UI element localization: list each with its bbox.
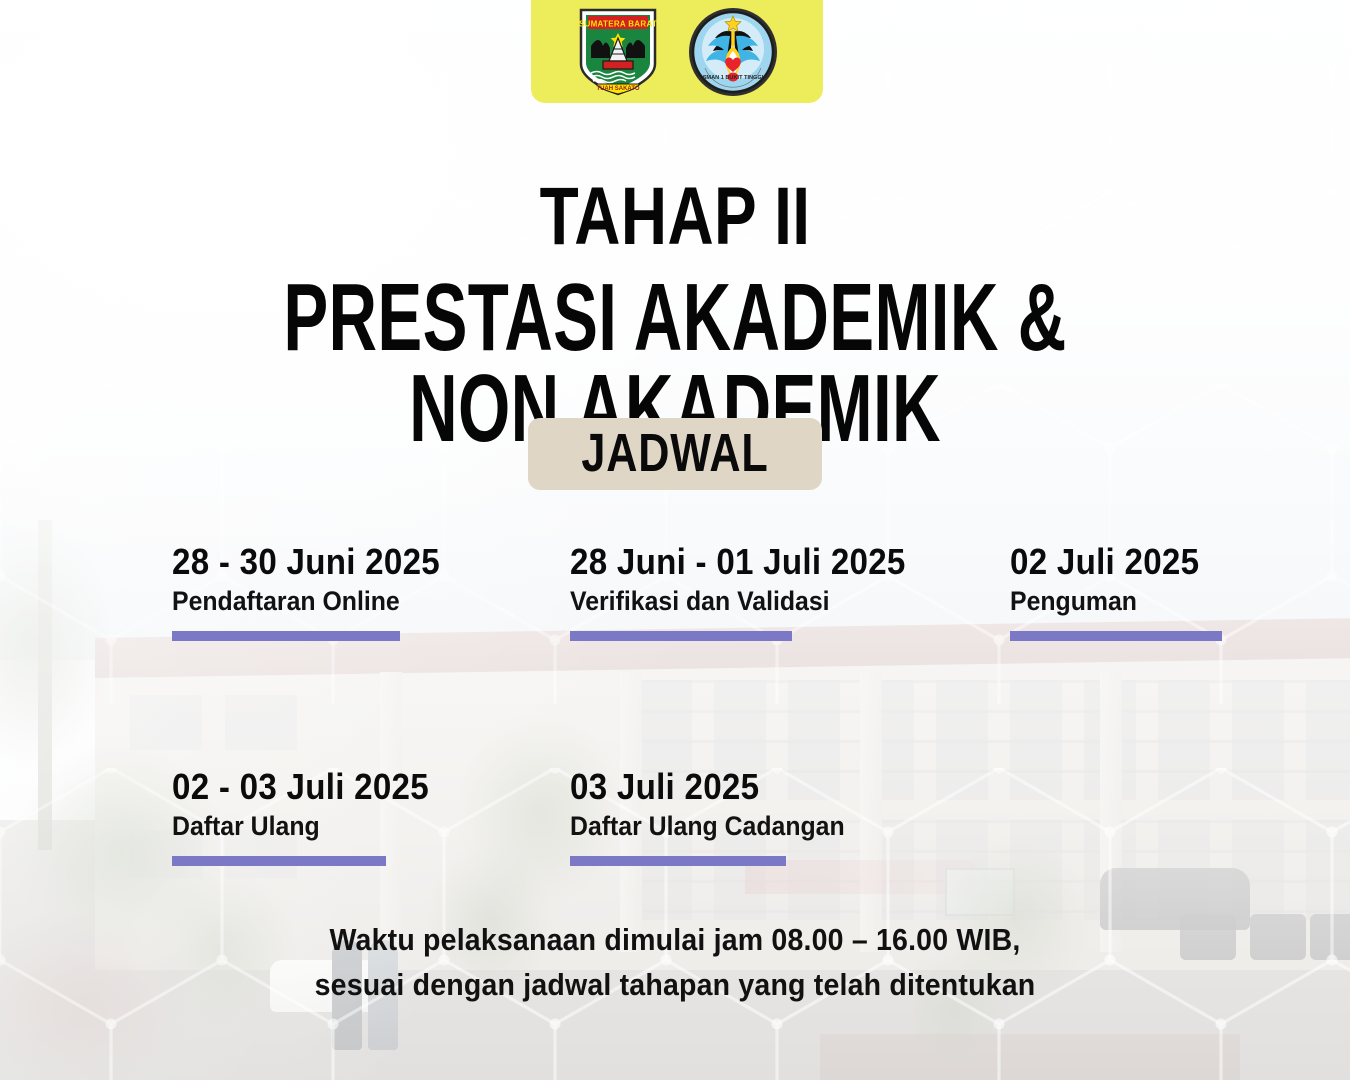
schedule-item-verifikasi-validasi: 28 Juni - 01 Juli 2025 Verifikasi dan Va… xyxy=(570,543,1010,641)
schedule-date: 02 - 03 Juli 2025 xyxy=(172,768,538,806)
footer-note-line-2: sesuai dengan jadwal tahapan yang telah … xyxy=(54,963,1296,1008)
schedule-date: 03 Juli 2025 xyxy=(570,768,975,806)
footer-note-line-1: Waktu pelaksanaan dimulai jam 08.00 – 16… xyxy=(54,918,1296,963)
schedule-activity: Verifikasi dan Validasi xyxy=(570,587,975,615)
schedule-accent-bar xyxy=(570,856,786,866)
schedule-activity: Penguman xyxy=(1010,587,1323,615)
west-sumatra-emblem-icon: SUMATERA BARAT TUAH SAKATO xyxy=(575,6,661,98)
schedule-item-daftar-ulang: 02 - 03 Juli 2025 Daftar Ulang xyxy=(172,768,570,866)
schedule-item-penguman: 02 Juli 2025 Penguman xyxy=(1010,543,1350,641)
announcement-poster: SUMATERA BARAT TUAH SAKATO xyxy=(0,0,1350,1080)
schedule-row-1: 28 - 30 Juni 2025 Pendaftaran Online 28 … xyxy=(0,543,1350,641)
schedule-date: 02 Juli 2025 xyxy=(1010,543,1323,581)
schedule-accent-bar xyxy=(172,631,400,641)
schedule-accent-bar xyxy=(570,631,792,641)
schedule-date: 28 - 30 Juni 2025 xyxy=(172,543,538,581)
poster-content: TAHAP II PRESTASI AKADEMIK & NON AKADEMI… xyxy=(0,0,1350,1080)
svg-text:TUAH SAKATO: TUAH SAKATO xyxy=(596,86,639,92)
logo-banner: SUMATERA BARAT TUAH SAKATO xyxy=(531,0,823,103)
schedule-accent-bar xyxy=(1010,631,1222,641)
svg-text:SUMATERA BARAT: SUMATERA BARAT xyxy=(579,19,657,28)
schedule-activity: Daftar Ulang Cadangan xyxy=(570,812,975,840)
headline-line-1: TAHAP II xyxy=(149,178,1202,256)
sman1-bukittinggi-emblem-icon: SMAN 1 BUKIT TINGGI xyxy=(687,6,779,98)
schedule-activity: Daftar Ulang xyxy=(172,812,538,840)
schedule-date: 28 Juni - 01 Juli 2025 xyxy=(570,543,975,581)
jadwal-badge: JADWAL xyxy=(528,418,822,490)
svg-text:SMAN 1 BUKIT TINGGI: SMAN 1 BUKIT TINGGI xyxy=(703,75,764,81)
footer-note: Waktu pelaksanaan dimulai jam 08.00 – 16… xyxy=(0,918,1350,1008)
schedule-activity: Pendaftaran Online xyxy=(172,587,538,615)
schedule-item-pendaftaran-online: 28 - 30 Juni 2025 Pendaftaran Online xyxy=(172,543,570,641)
schedule-row-2: 02 - 03 Juli 2025 Daftar Ulang 03 Juli 2… xyxy=(0,768,1350,866)
schedule-accent-bar xyxy=(172,856,386,866)
jadwal-badge-label: JADWAL xyxy=(581,426,768,480)
schedule-item-daftar-ulang-cadangan: 03 Juli 2025 Daftar Ulang Cadangan xyxy=(570,768,1010,866)
